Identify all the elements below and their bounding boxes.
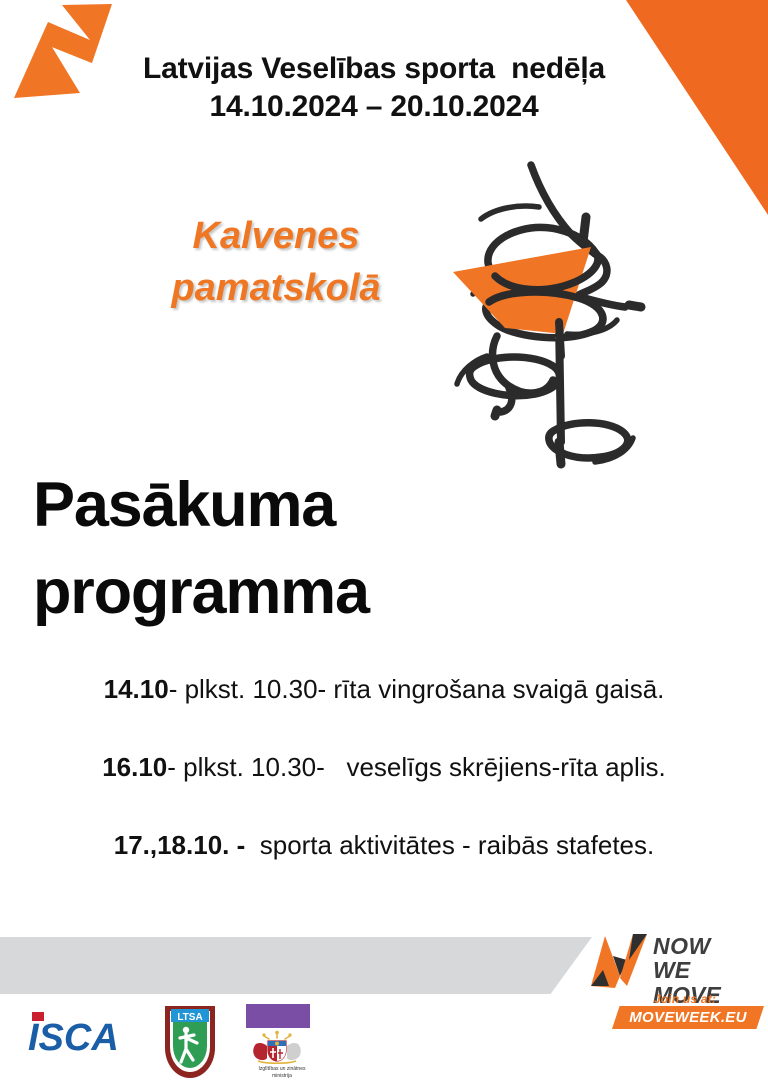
venue-name-line2: pamatskolā: [96, 262, 456, 314]
programme-item: 14.10- plkst. 10.30- rīta vingrošana sva…: [0, 673, 768, 751]
nowwemove-logo: NOW WE MOVE: [589, 928, 757, 994]
footer-grey-band: [0, 937, 592, 994]
svg-text:LTSA: LTSA: [177, 1012, 202, 1023]
join-us-label: Join us at:: [615, 992, 755, 1006]
izm-purple-block: [246, 1004, 310, 1028]
latvia-coat-of-arms-icon: [244, 1030, 310, 1066]
page-title-line1: Pasākuma: [33, 462, 653, 549]
page-title: Pasākuma programma: [33, 462, 653, 636]
programme-item-text: - plkst. 10.30- rīta vingrošana svaigā g…: [169, 674, 665, 704]
svg-text:ISCA: ISCA: [28, 1017, 119, 1058]
venue-name-line1: Kalvenes: [96, 210, 456, 262]
programme-item-text: sporta aktivitātes - raibās stafetes.: [245, 830, 654, 860]
header-date-range: 14.10.2024 – 20.10.2024: [20, 88, 728, 126]
programme-item-date: 14.10: [104, 674, 169, 704]
poster-canvas: Latvijas Veselības sporta nedēļa 14.10.2…: [0, 0, 768, 1086]
izm-caption: Izglītības un zinātnes ministrija: [232, 1066, 332, 1079]
izm-logo: Izglītības un zinātnes ministrija: [232, 1000, 344, 1086]
gymnast-with-ribbons-icon: [443, 142, 659, 480]
venue-block: Kalvenes pamatskolā: [96, 210, 456, 315]
programme-item-date: 17.,18.10. -: [114, 830, 246, 860]
moveweek-url[interactable]: MOVEWEEK.EU: [612, 1006, 764, 1029]
header-title-line1: Latvijas Veselības sporta nedēļa: [20, 50, 728, 88]
programme-item: 17.,18.10. - sporta aktivitātes - raibās…: [0, 829, 768, 907]
programme-item-date: 16.10: [102, 752, 167, 782]
isca-logo: ISCA: [26, 1010, 146, 1058]
programme-item: 16.10- plkst. 10.30- veselīgs skrējiens-…: [0, 751, 768, 829]
page-title-line2: programma: [33, 549, 653, 636]
ltsa-logo: LTSA: [160, 1002, 220, 1082]
programme-list: 14.10- plkst. 10.30- rīta vingrošana sva…: [0, 673, 768, 907]
programme-item-text: - plkst. 10.30- veselīgs skrējiens-rīta …: [167, 752, 666, 782]
nowwemove-word-now: NOW: [653, 934, 757, 958]
header-block: Latvijas Veselības sporta nedēļa 14.10.2…: [0, 50, 768, 127]
nowwemove-arrow-icon: [589, 930, 651, 992]
